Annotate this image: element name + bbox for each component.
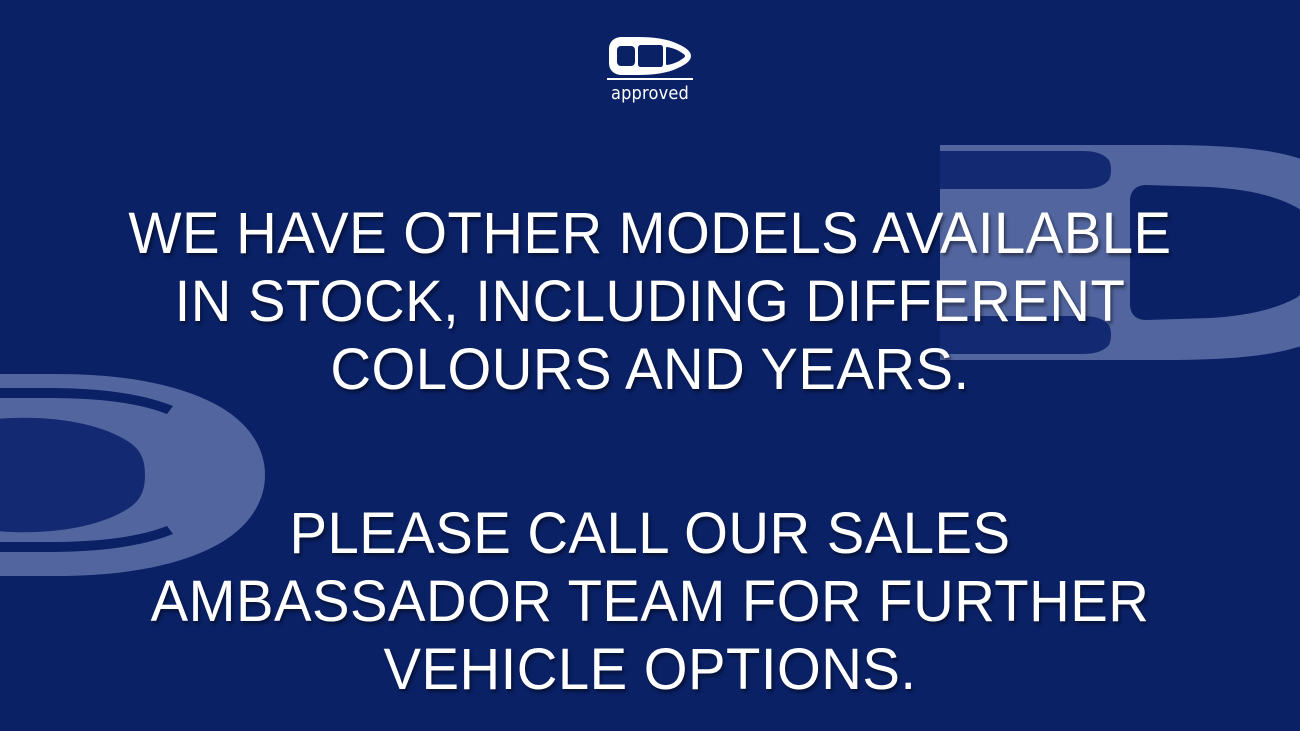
- logo-wordmark: approved: [590, 85, 710, 103]
- approved-logo: approved: [590, 36, 710, 103]
- headline-availability: WE HAVE OTHER MODELS AVAILABLE IN STOCK,…: [97, 200, 1203, 404]
- car-top-view-icon: [608, 36, 692, 76]
- logo-divider: [607, 78, 693, 80]
- approved-vehicle-notice-slide: approved WE HAVE OTHER MODELS AVAILABLE …: [0, 0, 1300, 731]
- headline-block-secondary: PLEASE CALL OUR SALES AMBASSADOR TEAM FO…: [80, 404, 1220, 704]
- headline-call-to-action: PLEASE CALL OUR SALES AMBASSADOR TEAM FO…: [97, 500, 1203, 704]
- main-content: WE HAVE OTHER MODELS AVAILABLE IN STOCK,…: [0, 0, 1300, 731]
